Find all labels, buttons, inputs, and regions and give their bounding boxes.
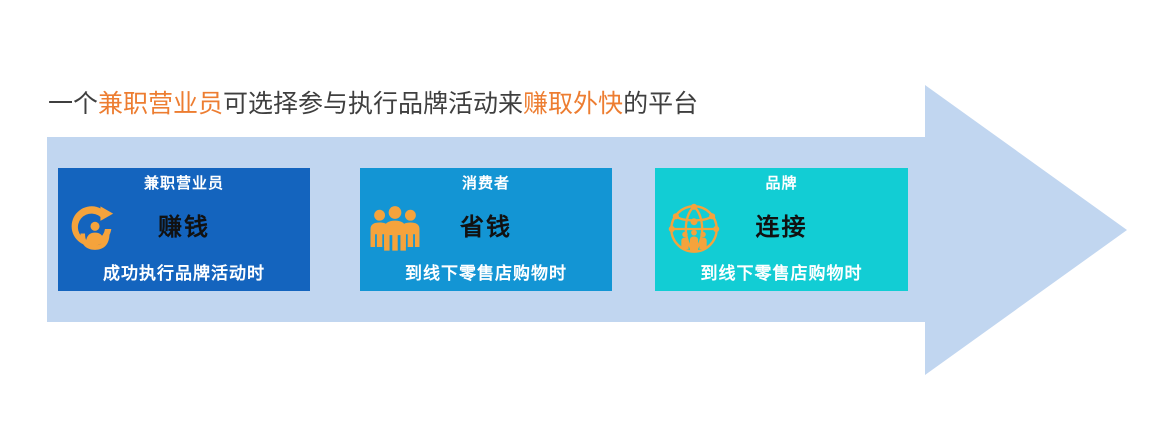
card-footer-label: 成功执行品牌活动时 [58, 263, 310, 285]
title-segment-4: 的平台 [623, 89, 698, 118]
card-main-label: 省钱 [360, 212, 612, 242]
card-consumer[interactable]: 消费者 省钱 到线下零售店购物时 [360, 168, 612, 291]
card-footer-label: 到线下零售店购物时 [360, 263, 612, 285]
slide-canvas: 一个兼职营业员可选择参与执行品牌活动来赚取外快的平台 兼职营业员 赚钱 成功执行… [0, 0, 1150, 430]
card-heading: 兼职营业员 [58, 173, 310, 193]
title-segment-0: 一个 [48, 89, 98, 118]
title-segment-1-highlight: 兼职营业员 [98, 89, 223, 118]
title-segment-2: 可选择参与执行品牌活动来 [223, 89, 523, 118]
title-segment-3-highlight: 赚取外快 [523, 89, 623, 118]
card-row: 兼职营业员 赚钱 成功执行品牌活动时 消费者 [58, 168, 908, 291]
card-main-label: 连接 [655, 212, 908, 242]
card-main-label: 赚钱 [58, 212, 310, 242]
card-heading: 消费者 [360, 173, 612, 193]
card-part-time-clerk[interactable]: 兼职营业员 赚钱 成功执行品牌活动时 [58, 168, 310, 291]
card-heading: 品牌 [655, 173, 908, 193]
card-footer-label: 到线下零售店购物时 [655, 263, 908, 285]
page-title: 一个兼职营业员可选择参与执行品牌活动来赚取外快的平台 [48, 89, 698, 119]
card-brand[interactable]: 品牌 [655, 168, 908, 291]
